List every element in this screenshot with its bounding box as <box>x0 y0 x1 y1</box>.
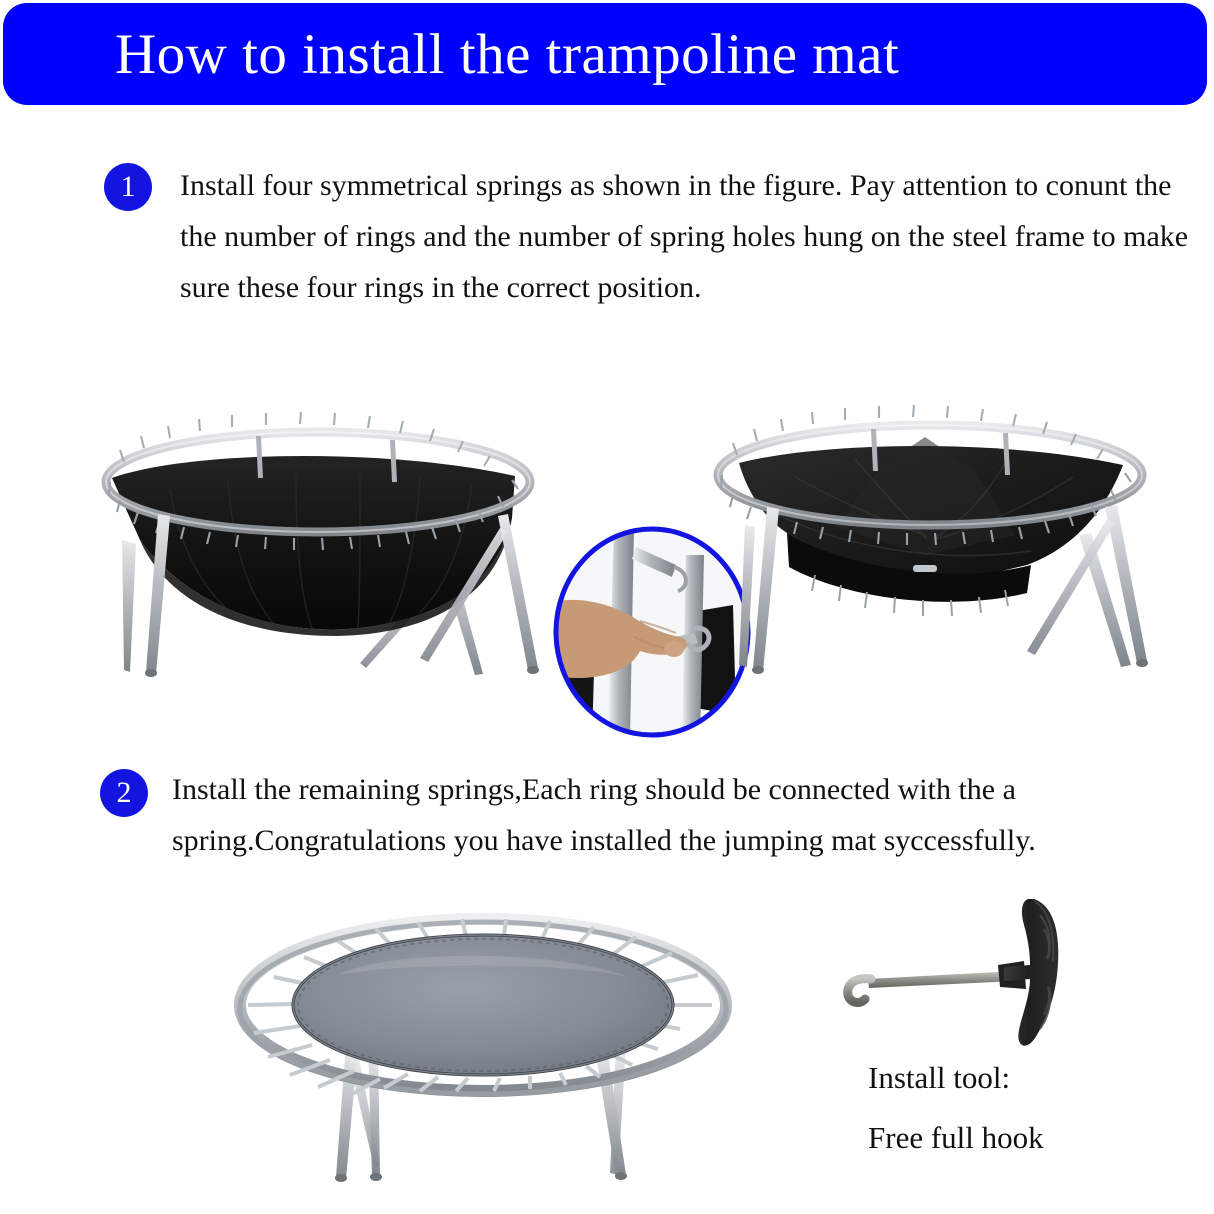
page-title: How to install the trampoline mat <box>115 26 899 83</box>
step-1-text: Install four symmetrical springs as show… <box>180 160 1190 313</box>
figure-trampoline-mat-loose <box>60 420 605 710</box>
header-banner: How to install the trampoline mat <box>3 3 1207 105</box>
trampoline-loose-illustration <box>60 420 605 710</box>
tool-caption-line-2: Free full hook <box>868 1118 1044 1158</box>
tool-caption-line-1: Install tool: <box>868 1058 1010 1098</box>
step-2-badge: 2 <box>100 769 148 817</box>
install-tool-illustration <box>838 893 1118 1058</box>
trampoline-four-springs-illustration <box>675 415 1195 705</box>
figure-trampoline-four-springs <box>675 415 1195 705</box>
step-1-badge: 1 <box>104 163 152 211</box>
trampoline-complete-illustration <box>228 905 738 1190</box>
figure-trampoline-complete <box>228 905 738 1190</box>
figure-install-tool-hook <box>838 893 1118 1058</box>
step-2-text: Install the remaining springs,Each ring … <box>172 764 1192 866</box>
